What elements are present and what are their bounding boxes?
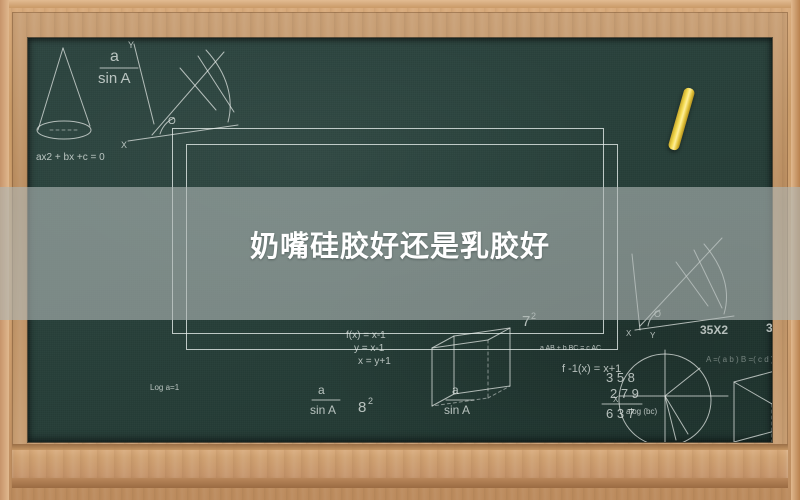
- svg-text:Y: Y: [650, 331, 656, 340]
- svg-text:8: 8: [358, 399, 366, 416]
- chalk-power-3x2: 3X2: [766, 321, 772, 335]
- ledge-lip: [12, 444, 788, 450]
- chalk-law-of-sines-top: a sin A: [98, 48, 138, 87]
- svg-text:a: a: [110, 48, 119, 65]
- svg-text:a: a: [318, 383, 325, 397]
- chalk-log-left: Log a=1: [150, 383, 180, 392]
- ledge-front-face: [12, 478, 788, 488]
- svg-text:X: X: [121, 140, 127, 150]
- svg-text:2 7 9: 2 7 9: [610, 386, 639, 401]
- chalk-axis-diagram-top: Y X O: [121, 40, 238, 150]
- svg-text:X: X: [626, 329, 632, 338]
- chalk-law-of-sines-mid: a sin A: [444, 383, 474, 417]
- svg-text:3 5 8: 3 5 8: [606, 370, 635, 385]
- chalk-power-35x2: 35X2: [700, 323, 728, 337]
- chalk-cone-drawing: [37, 48, 91, 139]
- chalk-law-of-sines-bl: a sin A: [310, 383, 340, 417]
- svg-text:O: O: [168, 116, 176, 127]
- svg-text:6 3 7: 6 3 7: [606, 406, 635, 421]
- page-title: 奶嘴硅胶好还是乳胶好: [0, 226, 800, 268]
- svg-text:7: 7: [522, 313, 530, 330]
- chalk-cube-center: [432, 328, 510, 406]
- chalk-vector-identity: a AB + b BC = c AC: [540, 345, 601, 352]
- svg-text:sin A: sin A: [310, 403, 336, 417]
- svg-text:sin A: sin A: [444, 403, 470, 417]
- svg-text:2: 2: [368, 396, 373, 406]
- svg-text:y = x-1: y = x-1: [354, 343, 385, 354]
- chalk-matrix-row: A =( a b ) B =( c d ) I =( 1 0 ): [706, 355, 772, 364]
- chalk-fx-equations: f(x) = x-1 y = x-1 x = y+1: [346, 330, 391, 367]
- svg-text:Y: Y: [128, 40, 134, 50]
- chalk-seven-squared: 7 2: [522, 311, 536, 330]
- svg-text:sin A: sin A: [98, 70, 131, 87]
- svg-text:O: O: [654, 309, 661, 319]
- chalk-quadratic-formula: ax2 + bx +c = 0: [36, 152, 105, 163]
- svg-text:2: 2: [531, 311, 536, 321]
- svg-text:a: a: [452, 383, 459, 397]
- svg-text:A =( a b ) B =( c d ) I =( 1: A =( a b ) B =( c d ) I =( 1 0 ): [706, 355, 772, 364]
- chalk-ledge-tray: [12, 444, 788, 488]
- frame-top-edge: [0, 0, 800, 8]
- chalk-cube-right: [734, 368, 772, 442]
- chalkboard-banner: a sin A ax2 + bx +c = 0 Y X O: [0, 0, 800, 500]
- chalk-eight-squared: 8 2: [358, 396, 373, 416]
- svg-text:f(x) = x-1: f(x) = x-1: [346, 330, 386, 341]
- svg-text:x = y+1: x = y+1: [358, 356, 391, 367]
